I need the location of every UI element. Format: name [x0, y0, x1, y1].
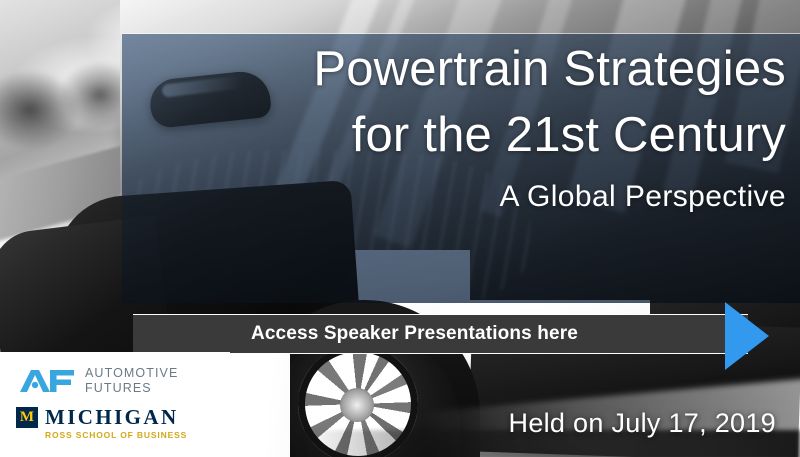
- michigan-ross-logo[interactable]: M MICHIGAN ROSS SCHOOL OF BUSINESS: [16, 406, 187, 441]
- title-line-2: for the 21st Century: [122, 102, 786, 168]
- subtitle: A Global Perspective: [122, 178, 786, 216]
- block-m-icon: M: [16, 407, 38, 428]
- access-speaker-presentations-button[interactable]: Access Speaker Presentations here: [133, 314, 748, 354]
- arrow-right-icon[interactable]: [725, 302, 769, 370]
- af-line-1: AUTOMOTIVE: [85, 366, 178, 381]
- af-monogram-icon: [18, 368, 76, 394]
- ross-school-subtitle: ROSS SCHOOL OF BUSINESS: [45, 429, 187, 441]
- af-line-2: FUTURES: [85, 381, 178, 396]
- overlay-top-rule: [122, 33, 800, 34]
- title-line-1: Powertrain Strategies: [122, 36, 786, 102]
- automotive-futures-logo[interactable]: AUTOMOTIVE FUTURES: [18, 366, 178, 396]
- headline-block: Powertrain Strategies for the 21st Centu…: [122, 36, 786, 216]
- cta-label: Access Speaker Presentations here: [251, 323, 630, 345]
- event-date: Held on July 17, 2019: [509, 408, 776, 439]
- michigan-wordmark: MICHIGAN: [45, 406, 187, 428]
- logo-block: AUTOMOTIVE FUTURES M MICHIGAN ROSS SCHOO…: [0, 352, 230, 457]
- event-promo-banner: Powertrain Strategies for the 21st Centu…: [0, 0, 800, 457]
